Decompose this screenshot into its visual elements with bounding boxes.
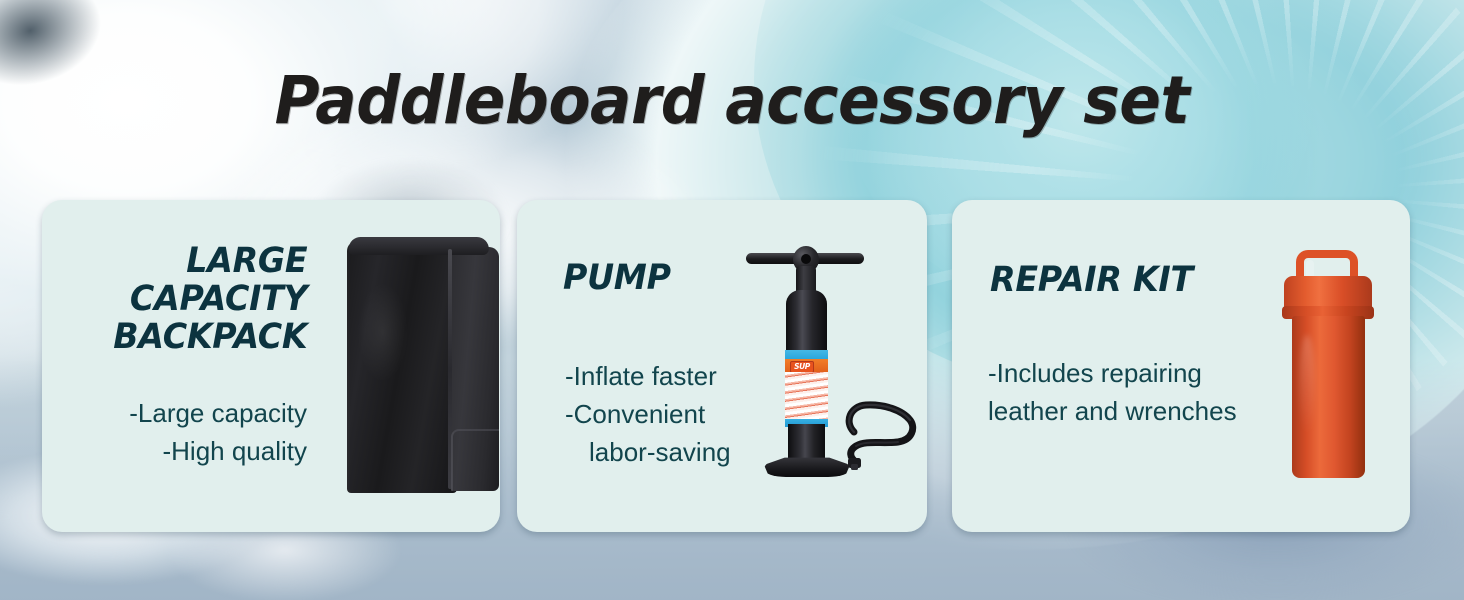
card-product-image: SUP xyxy=(732,200,927,532)
repair-kit-illustration xyxy=(1274,250,1384,480)
backpack-front-panel xyxy=(347,241,457,493)
backpack-pocket xyxy=(451,429,499,491)
pump-illustration: SUP xyxy=(744,238,919,488)
card-product-image xyxy=(312,200,500,532)
card-heading: REPAIR KIT xyxy=(990,262,1193,300)
pump-label-band: SUP xyxy=(785,350,828,427)
product-banner: Paddleboard accessory set LARGE CAPACITY… xyxy=(0,0,1464,600)
card-text-block: PUMP -Inflate faster -Convenient labor-s… xyxy=(527,200,757,532)
pump-base-plate xyxy=(764,456,850,477)
pump-lower-barrel xyxy=(788,424,825,460)
card-heading-line: LARGE xyxy=(113,243,307,281)
card-bullet-list: -Inflate faster -Convenient labor-saving xyxy=(565,358,731,472)
feature-card-backpack[interactable]: LARGE CAPACITY BACKPACK -Large capacity … xyxy=(42,200,500,532)
card-text-block: REPAIR KIT -Includes repairing leather a… xyxy=(970,200,1260,532)
card-heading-line: BACKPACK xyxy=(113,319,307,357)
card-bullet: -Convenient xyxy=(565,396,731,434)
card-heading-line: CAPACITY xyxy=(113,281,307,319)
page-title: Paddleboard accessory set xyxy=(51,68,1413,134)
card-heading: PUMP xyxy=(563,260,671,298)
pump-label-orange-band: SUP xyxy=(785,359,828,372)
pump-label-top-band xyxy=(785,350,828,359)
repair-kit-body xyxy=(1292,316,1365,478)
card-heading-line: REPAIR KIT xyxy=(990,262,1193,300)
card-bullet-list: -Includes repairing leather and wrenches xyxy=(988,355,1288,431)
card-bullet-list: -Large capacity -High quality xyxy=(129,395,307,471)
feature-card-list: LARGE CAPACITY BACKPACK -Large capacity … xyxy=(0,200,1464,532)
sup-logo: SUP xyxy=(790,361,814,373)
card-bullet: -High quality xyxy=(129,433,307,471)
card-bullet: -Inflate faster xyxy=(565,358,731,396)
pump-label-ribs xyxy=(785,372,828,419)
backpack-illustration xyxy=(347,233,499,495)
card-heading-line: PUMP xyxy=(563,260,671,298)
card-bullet: labor-saving xyxy=(565,434,731,472)
card-bullet: -Includes repairing leather and wrenches xyxy=(988,355,1288,431)
feature-card-repair-kit[interactable]: REPAIR KIT -Includes repairing leather a… xyxy=(952,200,1410,532)
backpack-top-lip xyxy=(349,237,490,255)
card-product-image xyxy=(1252,200,1410,532)
card-text-block: LARGE CAPACITY BACKPACK -Large capacity … xyxy=(42,200,307,532)
card-heading: LARGE CAPACITY BACKPACK xyxy=(113,243,307,356)
feature-card-pump[interactable]: PUMP -Inflate faster -Convenient labor-s… xyxy=(517,200,927,532)
pump-hose xyxy=(840,388,918,470)
card-bullet: -Large capacity xyxy=(129,395,307,433)
